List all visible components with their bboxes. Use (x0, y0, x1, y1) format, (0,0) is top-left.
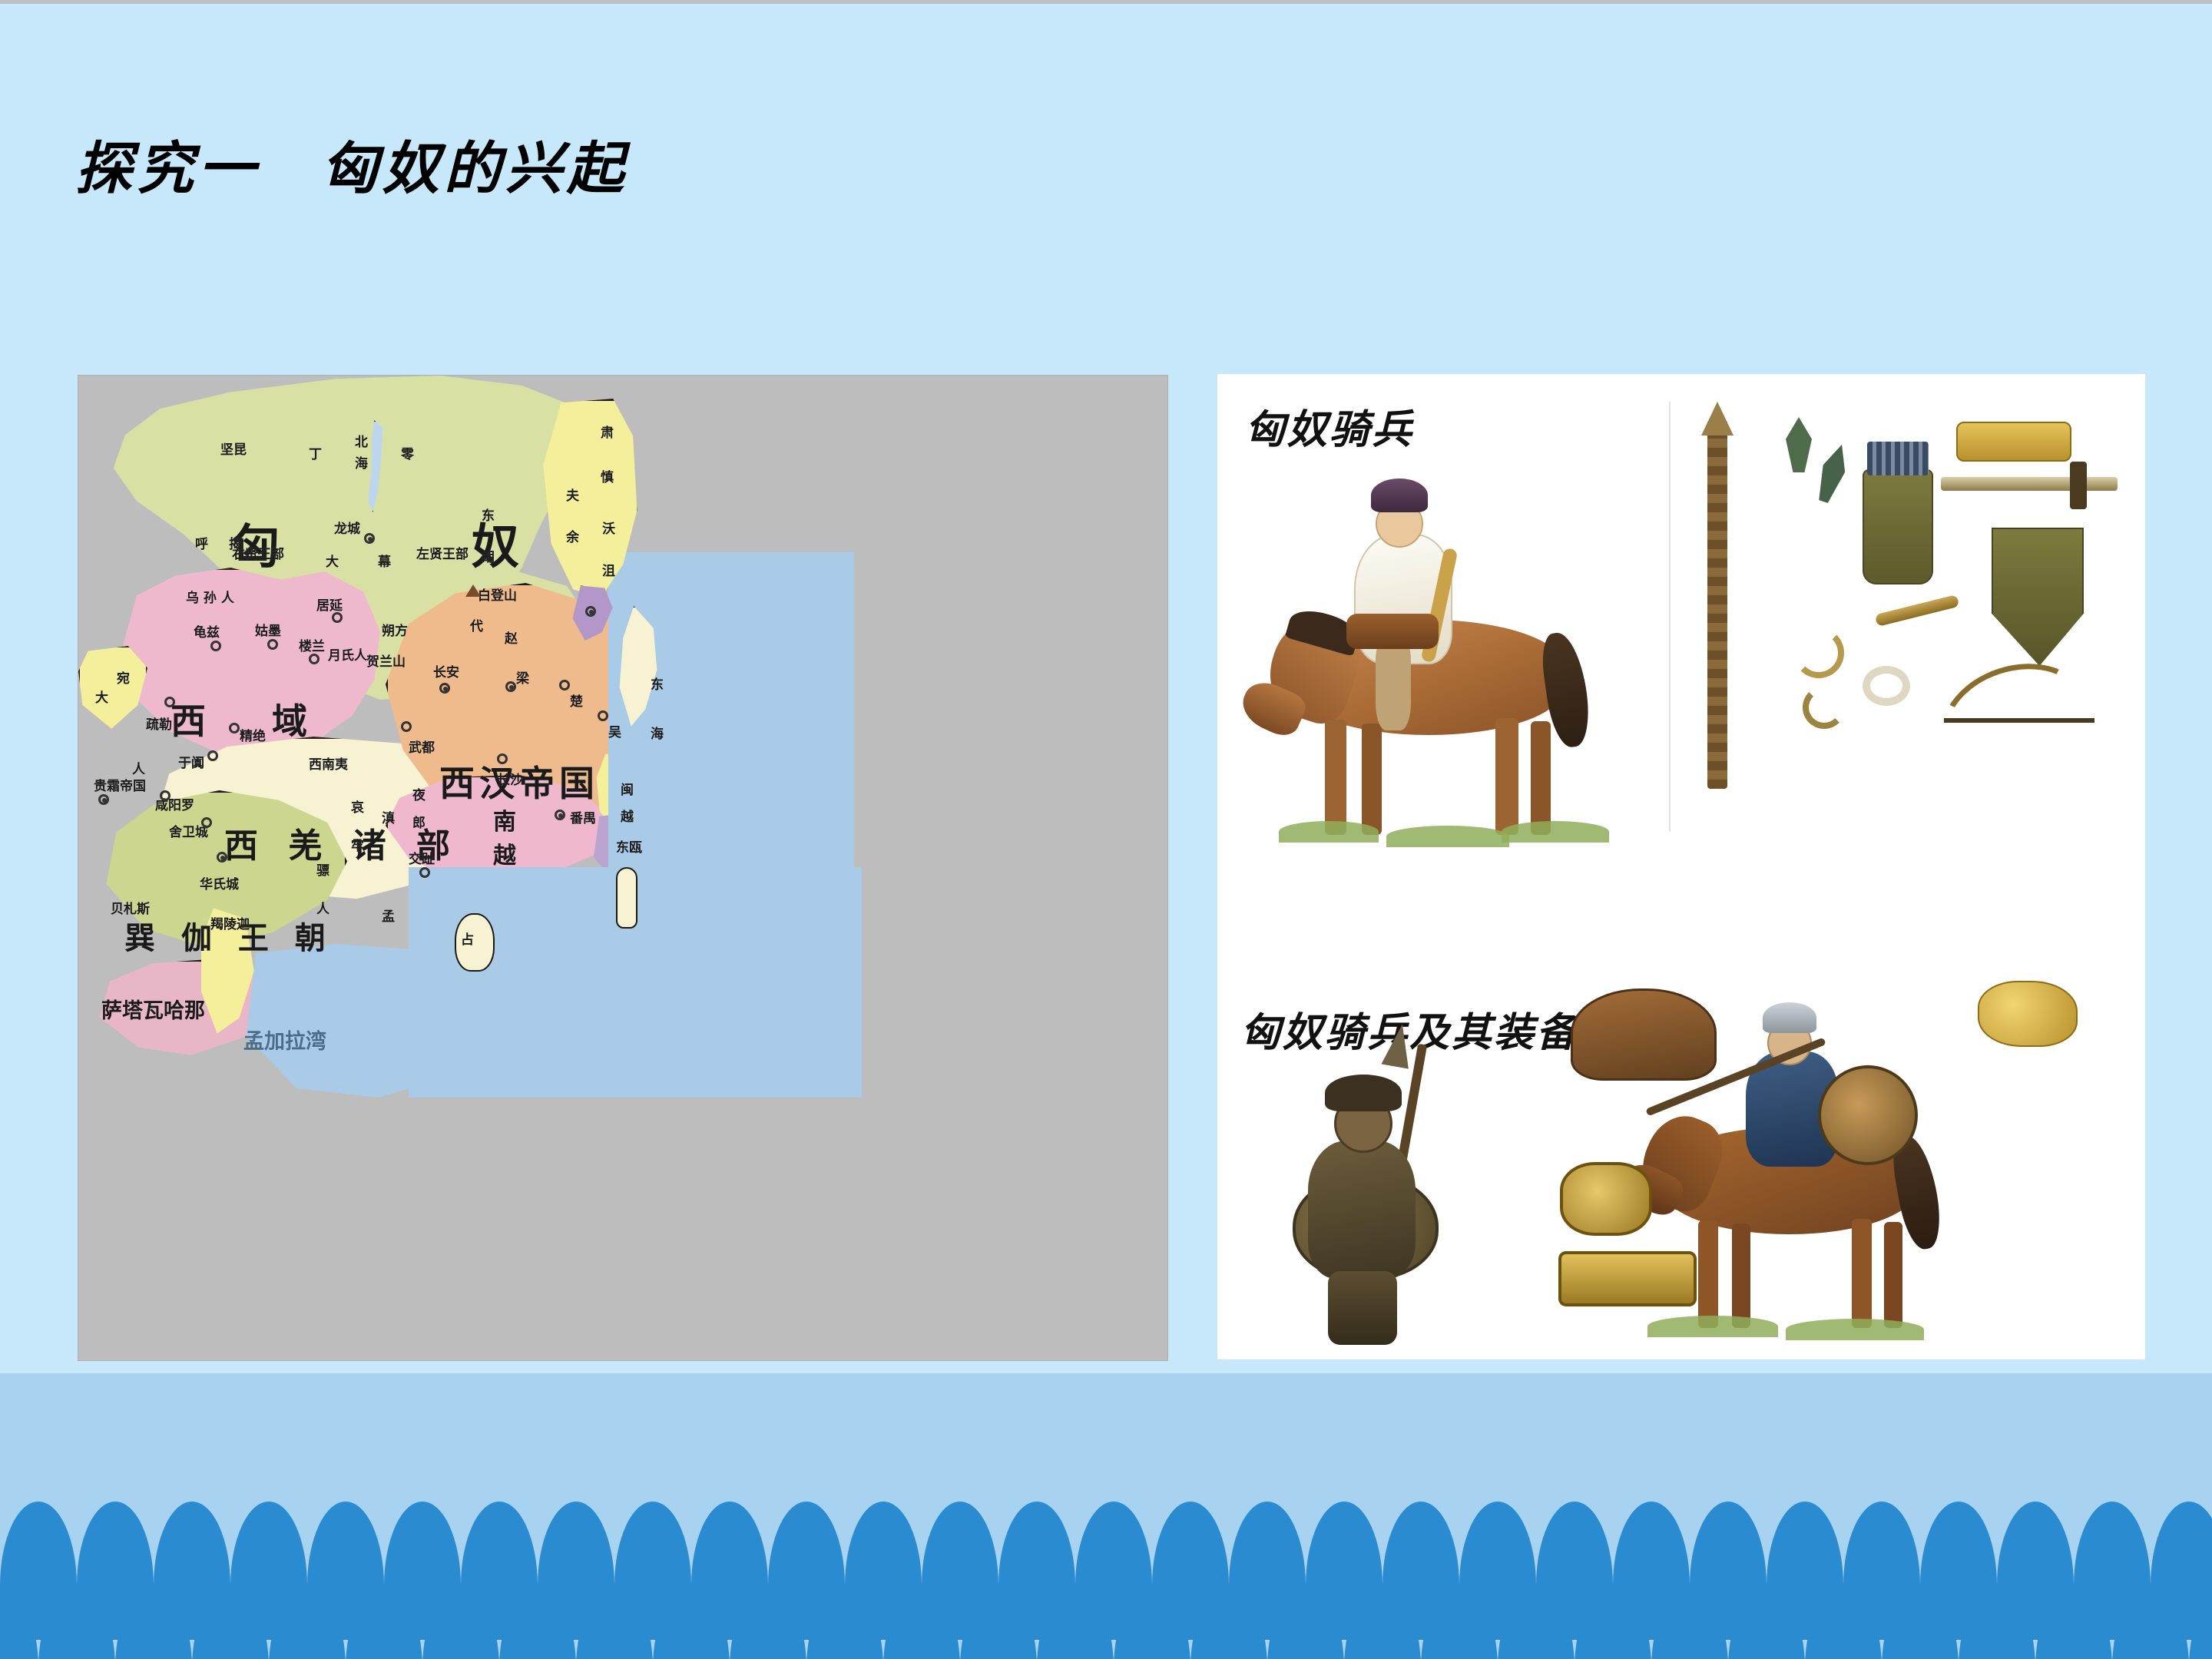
city-dot-jingjue (229, 723, 240, 733)
scallop-arc (2189, 1584, 2212, 1659)
scallop-arc (653, 1584, 730, 1659)
map-place-label: 东 (482, 505, 495, 524)
soldier-hat (1325, 1075, 1402, 1111)
city-dot-longcheng (364, 533, 375, 544)
city-dot-yutian (207, 750, 218, 761)
top-hairline (0, 0, 2212, 4)
grass-tuft-4 (1647, 1316, 1778, 1337)
scallop-arc (0, 1584, 38, 1659)
city-dot-changan (439, 683, 450, 694)
map-place-label: 零 (401, 443, 414, 462)
saddle (1346, 614, 1439, 649)
city-dot-chu (559, 680, 570, 690)
scallop-arc (1190, 1584, 1267, 1659)
soldier-legs (1328, 1271, 1397, 1345)
city-dot-qiuci (210, 641, 221, 651)
warhorse-leg-3 (1852, 1219, 1872, 1328)
city-dot-shule (164, 697, 175, 707)
map-place-label: 贺兰山 (366, 651, 406, 670)
horse-leg-2 (1362, 724, 1382, 835)
panel-divider (1669, 402, 1671, 832)
map-place-label: 梁 (516, 667, 529, 687)
map-place-label: 夫 (566, 485, 579, 504)
island-taiwan (616, 867, 637, 929)
grass-tuft-5 (1786, 1319, 1924, 1340)
map-place-label: 郎 (412, 812, 426, 831)
arrow-shaft (1944, 718, 2094, 723)
city-dot-panyu (555, 810, 565, 820)
map-label-xiongnu-2: 奴 (472, 508, 519, 577)
scallop-arc (192, 1584, 269, 1659)
scallop-arc (1267, 1584, 1344, 1659)
scallop-arc (1498, 1584, 1575, 1659)
warrior-helmet (1763, 1002, 1816, 1033)
map-place-label: 吴 (608, 721, 621, 740)
city-dot-juyan (332, 612, 343, 623)
map-place-label: 贵霜帝国 (94, 775, 146, 794)
map-place-label: 交趾 (409, 848, 435, 867)
map-label-bay-of-bengal: 孟加拉湾 (243, 1025, 326, 1055)
sword-hilt (2070, 462, 2087, 509)
spear-tip (1701, 402, 1734, 435)
map-place-label: 海 (651, 723, 664, 742)
scallop-arc (269, 1584, 346, 1659)
scallop-arc (1882, 1584, 1959, 1659)
map-place-label: 贝札斯 (111, 898, 150, 917)
map-place-label: 东 (651, 674, 664, 693)
map-place-label: 龙城 (334, 518, 360, 537)
quiver-arrows (1867, 442, 1929, 475)
belt-plaque-rect (1558, 1251, 1697, 1306)
scallop-arc (806, 1584, 883, 1659)
city-dot-changsha (497, 753, 508, 764)
map-place-label: 番禺 (570, 807, 596, 826)
scallop-arc (1421, 1584, 1498, 1659)
scallop-arc (883, 1584, 960, 1659)
arrowhead-1 (1786, 417, 1812, 472)
scallop-arc (38, 1584, 115, 1659)
map-place-label: 长沙 (497, 769, 523, 788)
map-place-label: 夜 (412, 784, 426, 803)
city-dot-jiaozhi (419, 867, 430, 878)
city-dot-chaoxian (585, 606, 596, 617)
map-label-satavahana: 萨塔瓦哈那 (101, 994, 205, 1024)
leather-case (1992, 528, 2084, 666)
map-place-label: 长安 (433, 661, 459, 680)
map-place-label: 疏勒 (146, 714, 172, 733)
map-place-label: 龟兹 (194, 621, 220, 641)
gold-ornament-1 (1978, 981, 2078, 1047)
map-place-label: 越 (621, 806, 634, 825)
scallop-arc (960, 1584, 1037, 1659)
warhorse-leg-4 (1884, 1222, 1902, 1328)
city-dot-shewei (201, 817, 212, 828)
map-place-label: 白登山 (478, 584, 517, 604)
map-place-label: 海 (355, 452, 368, 472)
map-place-label: 朔方 (382, 620, 408, 639)
mountain-icon-baidengshan (465, 584, 481, 597)
map-place-label: 胡 (482, 546, 495, 565)
hook-tool-1 (1793, 628, 1844, 678)
map-place-label: 牢 (351, 835, 364, 854)
jade-ring (1863, 666, 1910, 706)
scallop-arc (2112, 1584, 2189, 1659)
illustration-foot-soldier (1248, 1058, 1502, 1349)
map-place-label: 代 (470, 615, 483, 634)
map-place-label: 骠 (316, 859, 329, 879)
soldier-body (1308, 1141, 1416, 1279)
map-place-label: 赵 (505, 628, 518, 647)
map-place-label: 武都 (409, 737, 435, 756)
picture-label-cavalry-and-equipment: 匈奴骑兵及其装备 (1240, 1000, 1578, 1058)
grass-tuft-2 (1386, 826, 1509, 847)
scallop-arc (1959, 1584, 2035, 1659)
slide-root: 探究一 匈奴的兴起 (0, 0, 2212, 1659)
warrior-shield (1818, 1065, 1918, 1165)
map-place-label: 余 (566, 526, 579, 545)
map-place-label: 慎 (601, 466, 614, 485)
rider-leg (1376, 638, 1411, 730)
map-place-label: 沃 (602, 518, 615, 537)
scallop-arc (422, 1584, 499, 1659)
map-place-label: 丁 (309, 443, 322, 462)
map-place-label: 楼兰 (299, 635, 325, 654)
scallop-arc (1575, 1584, 1651, 1659)
rider-hat (1371, 478, 1428, 512)
map-place-label: 呼 (195, 533, 208, 552)
map-image-panel[interactable]: 匈 奴 西 域 西 羌 诸 部 西汉帝国 巽 伽 王 朝 南 越 萨塔瓦哈那 孟… (78, 376, 1167, 1360)
spear-shaft (1707, 420, 1727, 789)
map-place-label: 西南夷 (309, 753, 348, 773)
city-dot-xianyangluo (160, 790, 171, 801)
belt-plaque-oval (1560, 1162, 1652, 1236)
illustration-mounted-warrior (1548, 981, 2139, 1349)
map-place-label: 楚 (570, 690, 583, 710)
map-place-label: 月氏人 (328, 644, 367, 664)
map-place-label: 华氏城 (200, 873, 239, 892)
map-place-label: 居延 (316, 594, 343, 614)
illustration-equipment-group (1671, 412, 2139, 820)
scallop-arc (1344, 1584, 1421, 1659)
city-dot-wudu (401, 721, 412, 732)
city-dot-wu (598, 710, 608, 721)
scallop-row-bottom (0, 1584, 2212, 1659)
scallop-arc (576, 1584, 653, 1659)
map-place-label: 闽 (621, 779, 634, 798)
scallop-arc (1037, 1584, 1114, 1659)
knife (1875, 594, 1960, 627)
horse-leg-3 (1495, 718, 1518, 835)
map-place-label: 姑墨 (255, 620, 281, 639)
map-place-label: 人 (316, 898, 329, 917)
cavalry-image-panel[interactable]: 匈奴骑兵 (1217, 374, 2145, 1359)
map-place-label: 大 (95, 687, 108, 706)
scallop-arc (346, 1584, 422, 1659)
sword (1941, 477, 2118, 491)
map-place-label: 揭 (229, 533, 242, 552)
city-dot-loulan (309, 654, 320, 664)
map-place-label: 滇 (382, 807, 395, 826)
belt-plaque-gold (1956, 422, 2071, 462)
city-dot-liang (505, 681, 516, 692)
illustration-rider-on-horse (1225, 474, 1655, 873)
map-place-label: 幕 (378, 551, 391, 570)
city-dot-guishuang (98, 794, 109, 805)
region-dayuan (78, 646, 147, 730)
page-title: 探究一 匈奴的兴起 (75, 138, 628, 200)
warhorse-leg-1 (1698, 1220, 1718, 1328)
scallop-arc (1651, 1584, 1728, 1659)
map-label-nanyue-1: 南 (493, 803, 516, 836)
grass-tuft-3 (1502, 821, 1609, 843)
map-place-label: 宛 (117, 667, 130, 687)
scallop-arc (1805, 1584, 1882, 1659)
hook-tool-2 (1803, 686, 1846, 729)
city-dot-huashicheng (217, 852, 227, 863)
map-place-label: 占 (461, 929, 474, 948)
city-dot-gumo (267, 639, 278, 650)
saddle-artifact (1571, 988, 1717, 1081)
grass-tuft-1 (1279, 821, 1379, 843)
arrowhead-2 (1813, 441, 1853, 505)
scallop-arc (1114, 1584, 1190, 1659)
scallop-arc (1728, 1584, 1805, 1659)
scallop-arc (499, 1584, 576, 1659)
map-place-label: 沮 (602, 560, 615, 579)
horse-leg-1 (1325, 720, 1346, 835)
map-place-label: 精绝 (240, 725, 266, 744)
map-place-label: 孟 (382, 906, 395, 925)
map-place-label: 大 (326, 551, 339, 570)
quiver (1863, 469, 1933, 584)
map-place-label: 北 (355, 431, 368, 450)
map-label-nanyue-2: 越 (493, 836, 516, 870)
horse-leg-4 (1531, 721, 1551, 835)
map-place-label: 于阗 (178, 752, 204, 771)
scallop-arc (115, 1584, 192, 1659)
map-place-label: 哀 (351, 796, 364, 816)
scallop-arc (2035, 1584, 2112, 1659)
map-place-label: 左贤王部 (416, 543, 469, 562)
map-place-label: 羯陵迦 (210, 913, 250, 932)
map-place-label: 乌 孙 人 (186, 587, 234, 606)
map-place-label: 东瓯 (616, 836, 642, 856)
scallop-arc (730, 1584, 806, 1659)
map-place-label: 坚昆 (220, 439, 247, 458)
picture-label-xiongnu-cavalry: 匈奴骑兵 (1245, 397, 1414, 455)
map-place-label: 肃 (601, 422, 614, 441)
warhorse-leg-2 (1732, 1224, 1750, 1328)
composite-bow (1926, 645, 2108, 802)
